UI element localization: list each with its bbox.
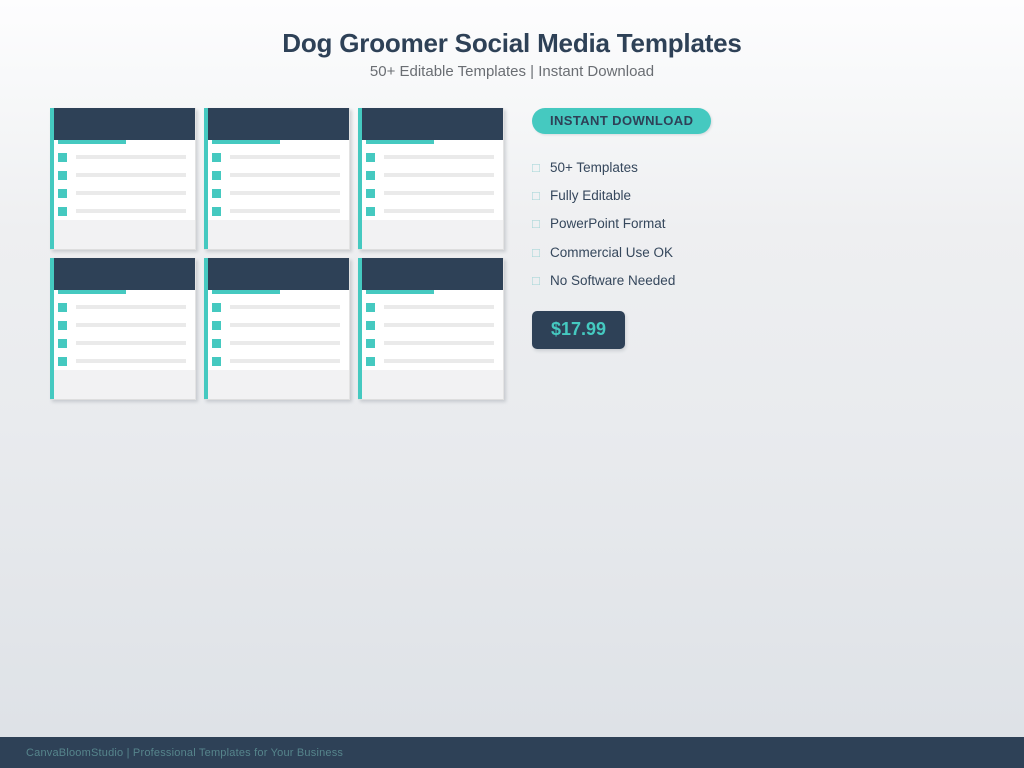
card-header-bar [208,108,350,140]
card-row-bullet-icon [366,303,375,312]
page-subtitle: 50+ Editable Templates | Instant Downloa… [0,61,1024,83]
card-row-placeholder-line [384,191,494,195]
feature-item-label: Fully Editable [550,188,631,203]
checkbox-square-icon: □ [532,246,546,259]
card-row-bullet-icon [58,153,67,162]
card-row [366,316,502,334]
card-underline-accent [366,290,434,294]
card-row-bullet-icon [212,303,221,312]
card-row-bullet-icon [58,303,67,312]
card-row-bullet-icon [366,321,375,330]
instant-download-badge[interactable]: INSTANT DOWNLOAD [532,108,711,134]
instant-download-badge-label: INSTANT DOWNLOAD [550,113,693,128]
card-row [58,298,194,316]
card-footer-band [54,220,196,249]
card-row-placeholder-line [230,305,340,309]
card-row-placeholder-line [76,209,186,213]
card-row [212,334,348,352]
card-row-bullet-icon [366,189,375,198]
checkbox-square-icon: □ [532,274,546,287]
card-row-bullet-icon [366,357,375,366]
checkbox-square-icon: □ [532,217,546,230]
card-row [212,352,348,370]
card-row-bullet-icon [366,153,375,162]
card-row [58,184,194,202]
card-footer-band [362,370,504,399]
card-row-bullet-icon [366,339,375,348]
card-header-bar [362,258,504,290]
card-footer-band [54,370,196,399]
card-row-bullet-icon [212,207,221,216]
card-row-placeholder-line [384,359,494,363]
card-row [366,166,502,184]
card-header-bar [54,108,196,140]
card-underline-accent [58,290,126,294]
card-underline-accent [212,140,280,144]
card-row-placeholder-line [384,323,494,327]
feature-item-label: Commercial Use OK [550,245,673,260]
card-row [212,166,348,184]
checkbox-square-icon: □ [532,161,546,174]
footer-bar: CanvaBloomStudio | Professional Template… [0,737,1024,768]
page-header: Dog Groomer Social Media Templates 50+ E… [0,0,1024,83]
feature-list: □50+ Templates□Fully Editable□PowerPoint… [532,153,972,295]
template-thumbnail-card[interactable] [50,108,196,250]
card-row-bullet-icon [58,339,67,348]
product-info-panel: INSTANT DOWNLOAD □50+ Templates□Fully Ed… [532,108,972,349]
card-row [58,166,194,184]
card-row-bullet-icon [212,153,221,162]
feature-item-label: No Software Needed [550,273,675,288]
card-header-bar [208,258,350,290]
feature-item: □Commercial Use OK [532,238,972,266]
card-row-placeholder-line [230,191,340,195]
card-row-placeholder-line [76,305,186,309]
card-row [212,316,348,334]
template-thumbnail-card[interactable] [50,258,196,400]
card-row [212,148,348,166]
checkbox-square-icon: □ [532,189,546,202]
card-row [212,184,348,202]
card-row-bullet-icon [58,357,67,366]
card-row [58,352,194,370]
card-row-bullet-icon [212,339,221,348]
card-row [366,202,502,220]
card-row-bullet-icon [58,207,67,216]
card-row [366,298,502,316]
card-footer-band [208,370,350,399]
price-badge[interactable]: $17.99 [532,311,625,349]
card-row-placeholder-line [76,155,186,159]
feature-item-label: 50+ Templates [550,160,638,175]
card-row-bullet-icon [58,189,67,198]
card-row-placeholder-line [230,323,340,327]
card-row-placeholder-line [384,341,494,345]
card-row [212,298,348,316]
card-row-placeholder-line [384,155,494,159]
card-row [366,352,502,370]
card-footer-band [362,220,504,249]
feature-item-label: PowerPoint Format [550,216,666,231]
card-header-bar [54,258,196,290]
card-row [58,202,194,220]
card-row-bullet-icon [366,171,375,180]
card-underline-accent [212,290,280,294]
card-row-placeholder-line [230,359,340,363]
card-row-placeholder-line [76,323,186,327]
card-row-bullet-icon [212,171,221,180]
card-row-placeholder-line [76,173,186,177]
feature-item: □PowerPoint Format [532,210,972,238]
template-thumbnail-card[interactable] [204,108,350,250]
card-row-placeholder-line [76,341,186,345]
card-row [366,184,502,202]
card-row [58,316,194,334]
card-footer-band [208,220,350,249]
card-row-bullet-icon [366,207,375,216]
card-row-bullet-icon [212,357,221,366]
card-row-placeholder-line [384,173,494,177]
card-row-placeholder-line [230,173,340,177]
card-row-placeholder-line [384,209,494,213]
footer-brand-text: CanvaBloomStudio | Professional Template… [26,747,343,759]
card-row-placeholder-line [76,359,186,363]
feature-item: □No Software Needed [532,267,972,295]
card-row-placeholder-line [76,191,186,195]
page-root: { "header": { "title": "Dog Groomer Soci… [0,0,1024,768]
card-row-placeholder-line [230,155,340,159]
card-row [58,334,194,352]
card-row [58,148,194,166]
card-row-bullet-icon [58,321,67,330]
card-header-bar [362,108,504,140]
card-underline-accent [366,140,434,144]
page-title: Dog Groomer Social Media Templates [0,26,1024,60]
card-row [366,148,502,166]
card-row-placeholder-line [230,341,340,345]
template-thumbnail-card[interactable] [358,258,504,400]
template-thumbnail-card[interactable] [358,108,504,250]
card-row-bullet-icon [212,189,221,198]
card-row-bullet-icon [212,321,221,330]
template-thumbnail-grid [50,108,506,400]
price-value: $17.99 [551,319,606,339]
template-thumbnail-card[interactable] [204,258,350,400]
card-row [366,334,502,352]
card-row-bullet-icon [58,171,67,180]
card-row-placeholder-line [384,305,494,309]
feature-item: □50+ Templates [532,153,972,181]
card-row-placeholder-line [230,209,340,213]
card-underline-accent [58,140,126,144]
feature-item: □Fully Editable [532,181,972,209]
card-row [212,202,348,220]
